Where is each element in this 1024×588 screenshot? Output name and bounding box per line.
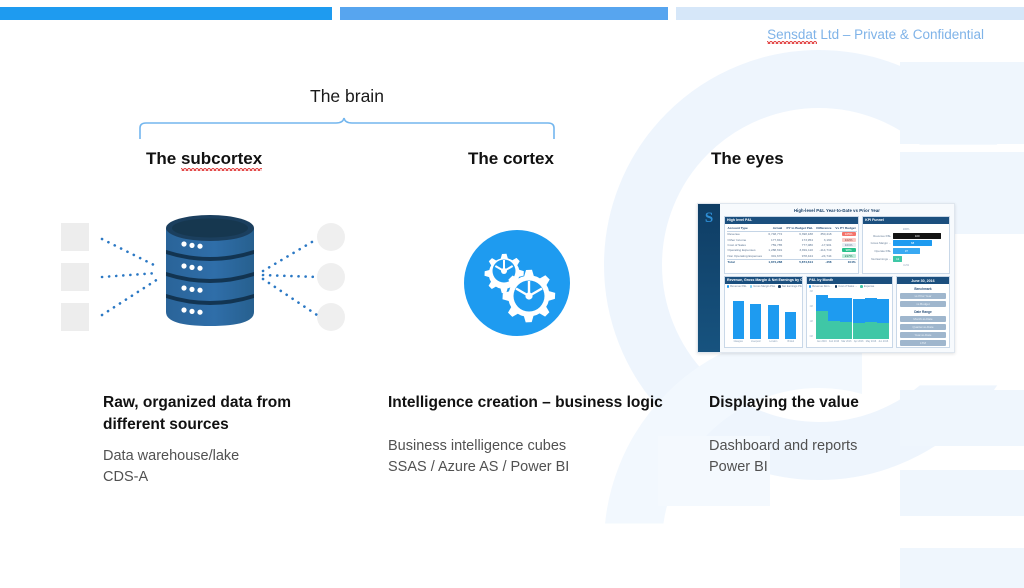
dashboard-row-top: High level P&L Account Type Actual PY to…	[724, 216, 950, 274]
column-title-subcortex-word: subcortex	[181, 149, 262, 169]
legend-item: Expense	[860, 285, 874, 288]
panel-funnel-header: KPI Funnel	[863, 217, 949, 224]
bar-column: Apr 2016	[853, 290, 865, 338]
gears-icon	[464, 230, 570, 336]
panel-pl-body: Account Type Actual PY to Budget P&L Dif…	[725, 224, 858, 273]
legend-item: Revenue P&L	[727, 285, 747, 288]
column-title-cortex: The cortex	[468, 149, 554, 169]
slicer-option[interactable]: Month-to-Date	[900, 316, 946, 322]
panel-kpi-funnel[interactable]: KPI Funnel 100% Revenue P&L 100 Gross Ma…	[862, 216, 950, 274]
bar-label: May 2016	[866, 340, 877, 343]
panel-month-header: P&L by Month	[807, 277, 892, 284]
panel-slicer[interactable]: June 30, 2016 Benchmark vs Prior Year vs…	[896, 276, 950, 348]
group-title-brain: The brain	[310, 86, 384, 107]
column-title-subcortex-prefix: The	[146, 149, 181, 168]
panel-funnel-body: 100% Revenue P&L 100 Gross Margin ... 68…	[863, 224, 949, 273]
bar-label: Liverpool	[751, 340, 761, 343]
top-bar-tertiary	[676, 7, 1024, 20]
bar-label: Jan 2016	[817, 340, 827, 343]
funnel-chart: 100% Revenue P&L 100 Gross Margin ... 68…	[865, 225, 948, 267]
dashboard-row-bottom: Revenue, Gross Margin & Net Earnings by …	[724, 276, 950, 348]
month-axis: 3M 2M 1M 0M	[810, 291, 815, 338]
legend-item: Gross Margin P&L	[750, 285, 776, 288]
funnel-label: Revenue P&L	[865, 234, 892, 238]
column-title-subcortex: The subcortex	[146, 149, 262, 169]
slicer-option[interactable]: LTM	[900, 340, 946, 346]
bar-column: Jan 2016	[816, 290, 828, 338]
status-badge: 101%	[842, 243, 856, 247]
funnel-bar: 100	[893, 233, 941, 239]
funnel-label: Net Earnings ...	[865, 257, 892, 261]
funnel-bar: 68	[893, 240, 932, 246]
funnel-bar: 12	[893, 256, 902, 262]
legend-item: Net Earnings P&L	[778, 285, 802, 288]
caption-body: Dashboard and reports Power BI	[709, 436, 989, 477]
dashboard-body: High-level P&L Year-to-Date vs Prior Yea…	[720, 204, 954, 352]
funnel-label: Operate P&L	[865, 249, 892, 253]
bar-column: Mar 2016	[840, 290, 852, 338]
panel-month-bars[interactable]: P&L by Month Revenue Dom... Cost of Sale…	[806, 276, 893, 348]
confidentiality-note-rest: Ltd – Private & Confidential	[817, 27, 984, 42]
bar-label: Jun 2016	[878, 340, 888, 343]
slicer-date-header: June 30, 2016	[897, 277, 949, 284]
background-block-5	[900, 548, 1024, 588]
bar-column: Feb 2016	[828, 290, 840, 338]
bar-column: London	[768, 290, 779, 338]
month-legend: Revenue Dom... Cost of Sales ... Expense	[809, 285, 891, 288]
caption-eyes: Displaying the value Dashboard and repor…	[709, 392, 989, 478]
panel-office-body: Revenue P&L Gross Margin P&L Net Earning…	[725, 284, 802, 347]
legend-item: Revenue Dom...	[809, 285, 832, 288]
database-icon	[160, 214, 260, 326]
dashboard-title: High-level P&L Year-to-Date vs Prior Yea…	[724, 207, 950, 214]
pl-table: Account Type Actual PY to Budget P&L Dif…	[727, 225, 857, 265]
slicer-group-title: Date Range	[897, 310, 949, 314]
cell-diff: -458	[814, 259, 833, 265]
cell-actual: 1,874,288	[766, 259, 783, 265]
cell-label: Total	[727, 259, 767, 265]
gears-graphic	[464, 230, 570, 336]
funnel-top-caption: 100%	[903, 228, 910, 231]
slicer-option[interactable]: Year-to-Date	[900, 332, 946, 338]
funnel-row: Net Earnings ... 12	[865, 256, 948, 262]
bar-column: Bristol	[785, 290, 796, 338]
funnel-row: Gross Margin ... 68	[865, 240, 948, 246]
dashboard-logo: S	[705, 211, 713, 226]
status-badge: 98%	[842, 248, 856, 252]
funnel-bottom-caption: 3.2%	[903, 264, 909, 267]
office-legend: Revenue P&L Gross Margin P&L Net Earning…	[727, 285, 801, 288]
bar-label: Glasgow	[734, 340, 743, 343]
dashboard-sidebar: S	[698, 204, 720, 352]
caption-body: Business intelligence cubes SSAS / Azure…	[388, 436, 688, 477]
bar-label: Apr 2016	[854, 340, 864, 343]
top-bar-secondary	[340, 7, 668, 20]
gears-circle-badge	[464, 230, 570, 336]
bar-column: Glasgow	[733, 290, 744, 338]
cell-actual: 6,748,772	[766, 231, 783, 237]
bar-label: London	[769, 340, 777, 343]
panel-pl-header: High level P&L	[725, 217, 858, 224]
legend-item: Cost of Sales ...	[835, 285, 858, 288]
database-graphic	[55, 205, 365, 335]
slide-canvas: Sensdat Ltd – Private & Confidential The…	[0, 0, 1024, 588]
bar-label: Mar 2016	[841, 340, 851, 343]
bar-column: May 2016	[865, 290, 877, 338]
panel-pl-table[interactable]: High level P&L Account Type Actual PY to…	[724, 216, 859, 274]
panel-month-body: Revenue Dom... Cost of Sales ... Expense…	[807, 284, 892, 347]
funnel-label: Gross Margin ...	[865, 241, 892, 245]
slicer-option[interactable]: vs Budget	[900, 301, 946, 307]
caption-heading: Intelligence creation – business logic	[388, 392, 688, 414]
curly-brace	[138, 116, 556, 140]
slicer-option[interactable]: Quarter-to-Date	[900, 324, 946, 330]
panel-office-header: Revenue, Gross Margin & Net Earnings by …	[725, 277, 802, 284]
funnel-row: Revenue P&L 100	[865, 233, 948, 239]
confidentiality-note: Sensdat Ltd – Private & Confidential	[767, 27, 984, 42]
caption-heading: Displaying the value	[709, 392, 989, 414]
funnel-row: Operate P&L 37	[865, 248, 948, 254]
panel-office-bars[interactable]: Revenue, Gross Margin & Net Earnings by …	[724, 276, 803, 348]
bar-label: Bristol	[788, 340, 795, 343]
cell-pct: 104%	[833, 259, 857, 265]
office-bar-chart: Glasgow Liverpool London Bristol	[727, 289, 801, 343]
dashboard-screenshot[interactable]: S High-level P&L Year-to-Date vs Prior Y…	[697, 203, 955, 353]
background-block-1	[900, 62, 1024, 144]
bar-column: Liverpool	[750, 290, 761, 338]
slicer-group-title: Benchmark	[897, 287, 949, 291]
caption-subcortex: Raw, organized data from different sourc…	[103, 392, 403, 487]
top-bar-group	[0, 7, 1024, 20]
caption-cortex: Intelligence creation – business logic B…	[388, 392, 688, 478]
funnel-bar: 37	[893, 248, 920, 254]
status-badge: 217%	[842, 254, 856, 258]
status-badge: 102%	[842, 238, 856, 242]
caption-heading: Raw, organized data from different sourc…	[103, 392, 403, 437]
table-total-row: Total 1,874,288 5,874,614 -458 104%	[727, 259, 857, 265]
slicer-option[interactable]: vs Prior Year	[900, 293, 946, 299]
top-bar-primary	[0, 7, 332, 20]
bar-column: Jun 2016	[877, 290, 889, 338]
cell-budget: 5,874,614	[783, 259, 814, 265]
bar-label: Feb 2016	[829, 340, 839, 343]
column-title-eyes: The eyes	[711, 149, 784, 169]
spellcheck-underlined-word: Sensdat	[767, 27, 817, 42]
status-badge: 105%	[842, 232, 856, 236]
month-bar-chart: 3M 2M 1M 0M Jan 2016 Feb 2016 Mar 2016 A…	[809, 289, 891, 343]
caption-body: Data warehouse/lake CDS-A	[103, 446, 403, 487]
cell-actual: 1,288,691	[766, 248, 783, 253]
